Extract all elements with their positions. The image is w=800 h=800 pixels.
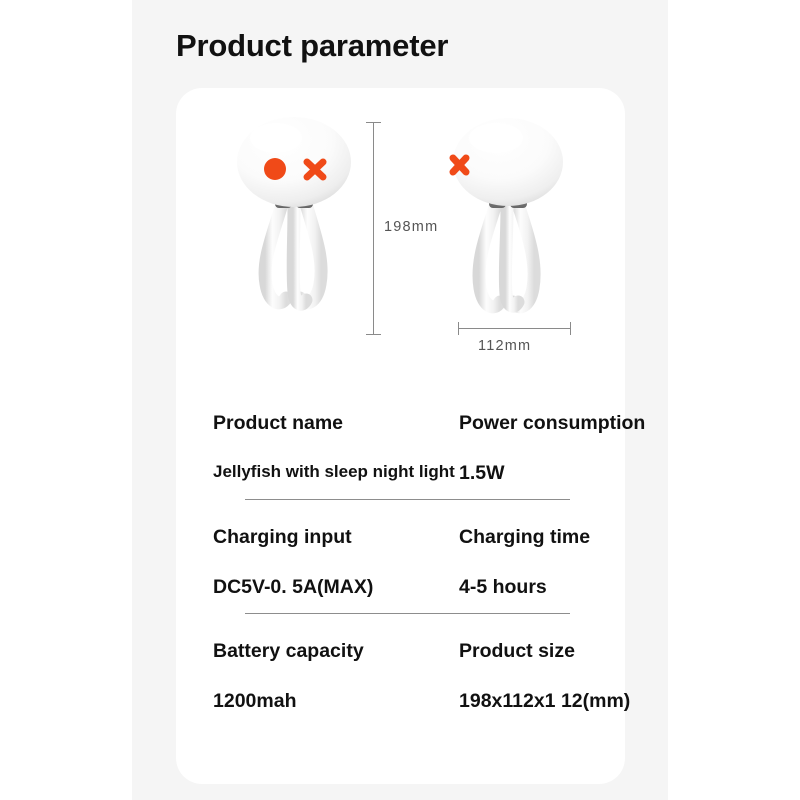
tentacles (265, 204, 321, 304)
dome-highlight (469, 123, 523, 153)
width-dimension-label: 112mm (478, 338, 531, 354)
table-row: Charging input DC5V-0. 5A(MAX) Charging … (176, 518, 646, 632)
table-row: Product name Jellyfish with sleep night … (176, 404, 646, 518)
page-title: Product parameter (176, 28, 448, 64)
height-dimension-line (373, 122, 374, 334)
height-dimension-label: 198mm (384, 219, 438, 235)
eye-cross (453, 158, 466, 172)
spec-value-power-consumption: 1.5W (459, 462, 505, 485)
spec-key-power-consumption: Power consumption (459, 412, 645, 435)
row-divider (245, 499, 570, 500)
spec-value-product-name: Jellyfish with sleep night light (213, 462, 455, 482)
spec-value-charging-input: DC5V-0. 5A(MAX) (213, 576, 373, 599)
width-tick-right (570, 322, 571, 335)
spec-value-product-size: 198x112x1 12(mm) (459, 690, 630, 713)
table-row: Battery capacity 1200mah Product size 19… (176, 632, 646, 746)
spec-value-battery-capacity: 1200mah (213, 690, 296, 713)
spec-key-charging-time: Charging time (459, 526, 590, 549)
product-parameter-page: Product parameter (0, 0, 800, 800)
eye-dot (264, 158, 286, 180)
spec-value-charging-time: 4-5 hours (459, 576, 547, 599)
specification-table: Product name Jellyfish with sleep night … (176, 404, 646, 746)
spec-key-product-name: Product name (213, 412, 343, 435)
spec-key-battery-capacity: Battery capacity (213, 640, 364, 663)
width-dimension-line (458, 328, 570, 329)
spec-key-charging-input: Charging input (213, 526, 352, 549)
jellyfish-front-view (224, 112, 364, 332)
product-illustration-area: 198mm (176, 100, 625, 380)
jellyfish-angled-view (440, 108, 580, 338)
dome-highlight (250, 123, 302, 153)
spec-key-product-size: Product size (459, 640, 575, 663)
height-tick-bottom (366, 334, 381, 335)
row-divider (245, 613, 570, 614)
tentacles (479, 204, 534, 307)
